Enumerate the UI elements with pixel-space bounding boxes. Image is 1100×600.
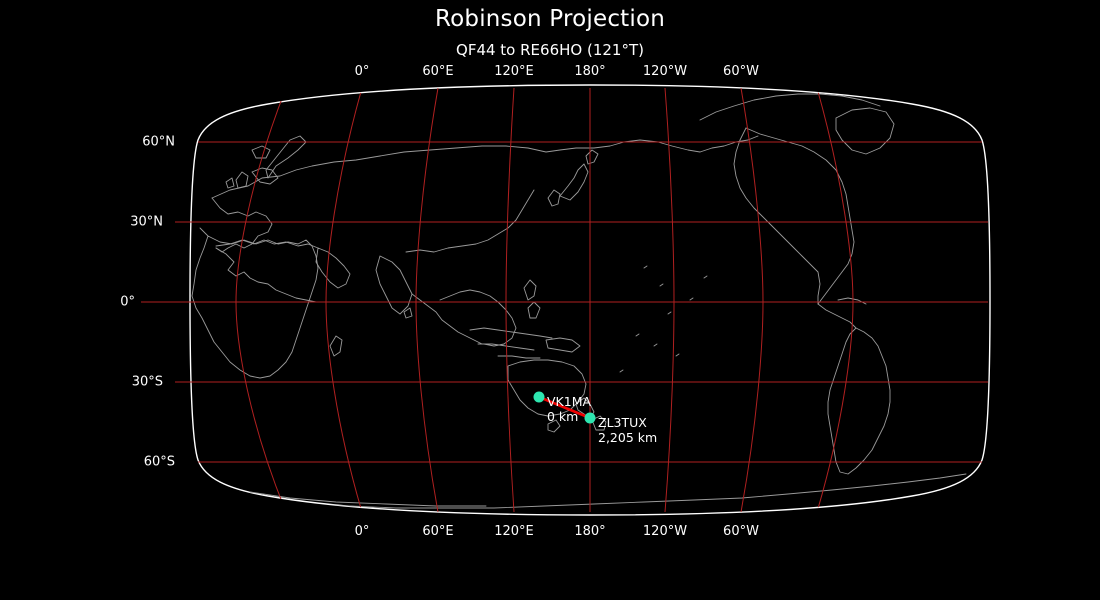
lat-label: 60°N	[120, 135, 175, 150]
lon-label-bottom: 60°W	[723, 524, 759, 539]
lon-label-top: 180°	[574, 64, 605, 79]
map-figure: Robinson Projection QF44 to RE66HO (121°…	[0, 0, 1100, 600]
lon-label-top: 60°W	[723, 64, 759, 79]
station-callsign: ZL3TUX	[598, 415, 647, 430]
lon-label-bottom: 0°	[355, 524, 370, 539]
station-callsign: VK1MA	[547, 394, 591, 409]
lon-label-top: 120°W	[643, 64, 687, 79]
map-canvas: 0° 60°E 120°E 180° 120°W 60°W 0° 60°E 12…	[0, 0, 1100, 600]
lon-label-top: 0°	[355, 64, 370, 79]
lat-label: 30°N	[108, 215, 163, 230]
station-distance: 2,205 km	[598, 430, 657, 445]
lat-label: 60°S	[120, 455, 175, 470]
lon-label-bottom: 120°E	[494, 524, 534, 539]
lon-label-bottom: 180°	[574, 524, 605, 539]
lat-label: 0°	[80, 295, 135, 310]
lon-label-top: 120°E	[494, 64, 534, 79]
station-label-destination: ZL3TUX 2,205 km	[598, 415, 657, 445]
station-marker-origin[interactable]	[534, 392, 545, 403]
lat-label: 30°S	[108, 375, 163, 390]
lon-label-top: 60°E	[422, 64, 453, 79]
station-distance: 0 km	[547, 409, 591, 424]
lon-label-bottom: 120°W	[643, 524, 687, 539]
map-svg	[0, 0, 1100, 600]
station-label-origin: VK1MA 0 km	[547, 394, 591, 424]
lon-label-bottom: 60°E	[422, 524, 453, 539]
